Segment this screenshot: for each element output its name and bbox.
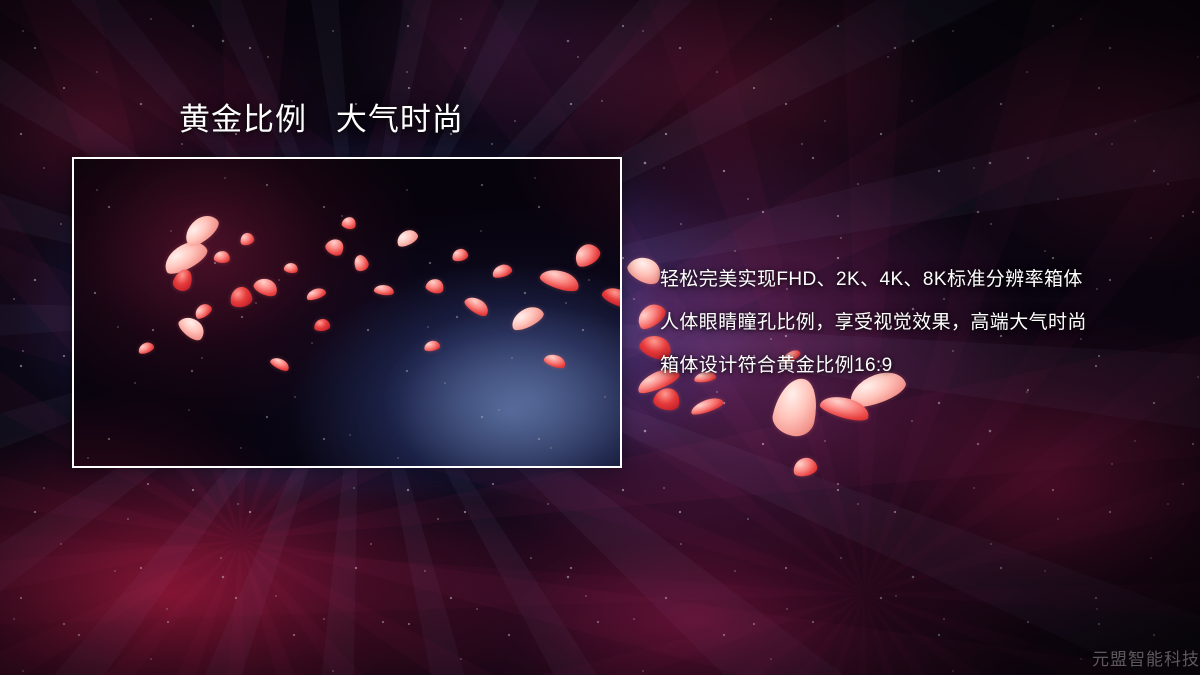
presentation-slide: 黄金比例 大气时尚 轻松完美实现FHD、2K、4K、8K标准分辨率箱体 人体眼睛…	[0, 0, 1200, 675]
watermark-brand: 元盟智能科技	[1092, 645, 1200, 670]
body-text-block: 轻松完美实现FHD、2K、4K、8K标准分辨率箱体 人体眼睛瞳孔比例，享受视觉效…	[660, 258, 1180, 387]
body-line: 轻松完美实现FHD、2K、4K、8K标准分辨率箱体	[660, 258, 1180, 301]
framed-preview-image	[72, 157, 622, 468]
frame-inner	[74, 159, 620, 466]
body-line: 人体眼睛瞳孔比例，享受视觉效果，高端大气时尚	[660, 301, 1180, 344]
page-title: 黄金比例 大气时尚	[179, 101, 464, 140]
body-line: 箱体设计符合黄金比例16:9	[660, 344, 1180, 387]
